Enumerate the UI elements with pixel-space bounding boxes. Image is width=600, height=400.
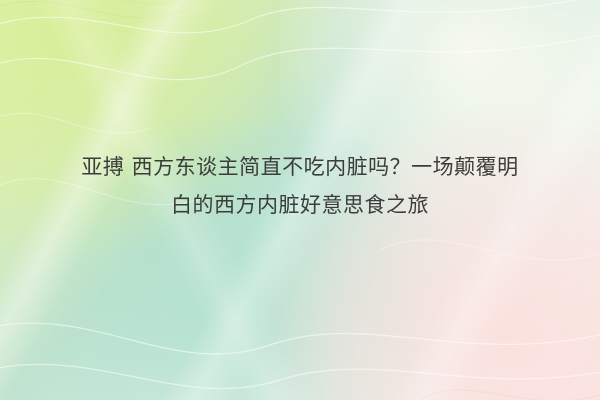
banner-title: 亚搏 西方东谈主简直不吃内脏吗？一场颠覆明 白的西方内脏好意思食之旅 bbox=[0, 148, 600, 224]
decorative-banner: 亚搏 西方东谈主简直不吃内脏吗？一场颠覆明 白的西方内脏好意思食之旅 bbox=[0, 0, 600, 400]
